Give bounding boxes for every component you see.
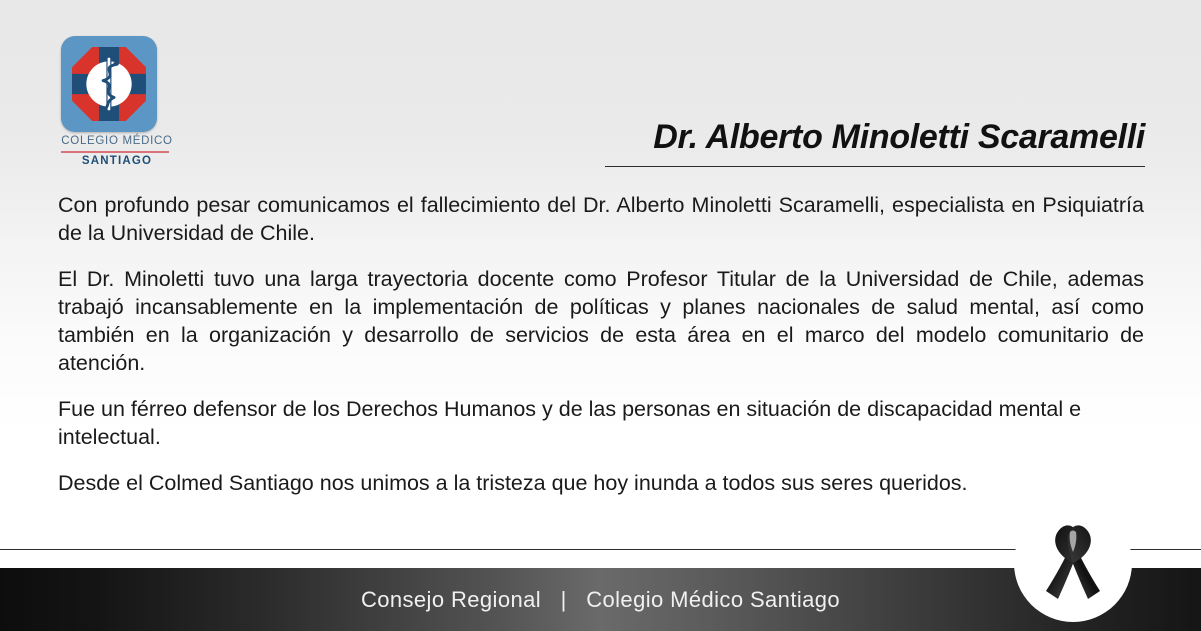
- paragraph-3: Fue un férreo defensor de los Derechos H…: [58, 396, 1144, 452]
- colegio-medico-emblem-icon: [67, 42, 151, 126]
- mourning-ribbon-icon: [1034, 519, 1112, 607]
- logo-tile: [61, 36, 157, 132]
- mourning-ribbon-medallion: [1014, 504, 1132, 622]
- logo-divider: [61, 151, 169, 153]
- page-title: Dr. Alberto Minoletti Scaramelli: [653, 118, 1145, 157]
- paragraph-2: El Dr. Minoletti tuvo una larga trayecto…: [58, 266, 1144, 378]
- title-underline: [605, 166, 1145, 167]
- paragraph-1: Con profundo pesar comunicamos el fallec…: [58, 192, 1144, 248]
- paragraph-4: Desde el Colmed Santiago nos unimos a la…: [58, 470, 1144, 498]
- colegio-medico-logo: COLEGIO MÉDICO SANTIAGO: [56, 36, 178, 162]
- logo-name: COLEGIO MÉDICO: [56, 135, 178, 147]
- obituary-body: Con profundo pesar comunicamos el fallec…: [58, 192, 1144, 497]
- logo-subtitle: SANTIAGO: [56, 155, 178, 167]
- memorial-card: COLEGIO MÉDICO SANTIAGO Dr. Alberto Mino…: [0, 0, 1201, 631]
